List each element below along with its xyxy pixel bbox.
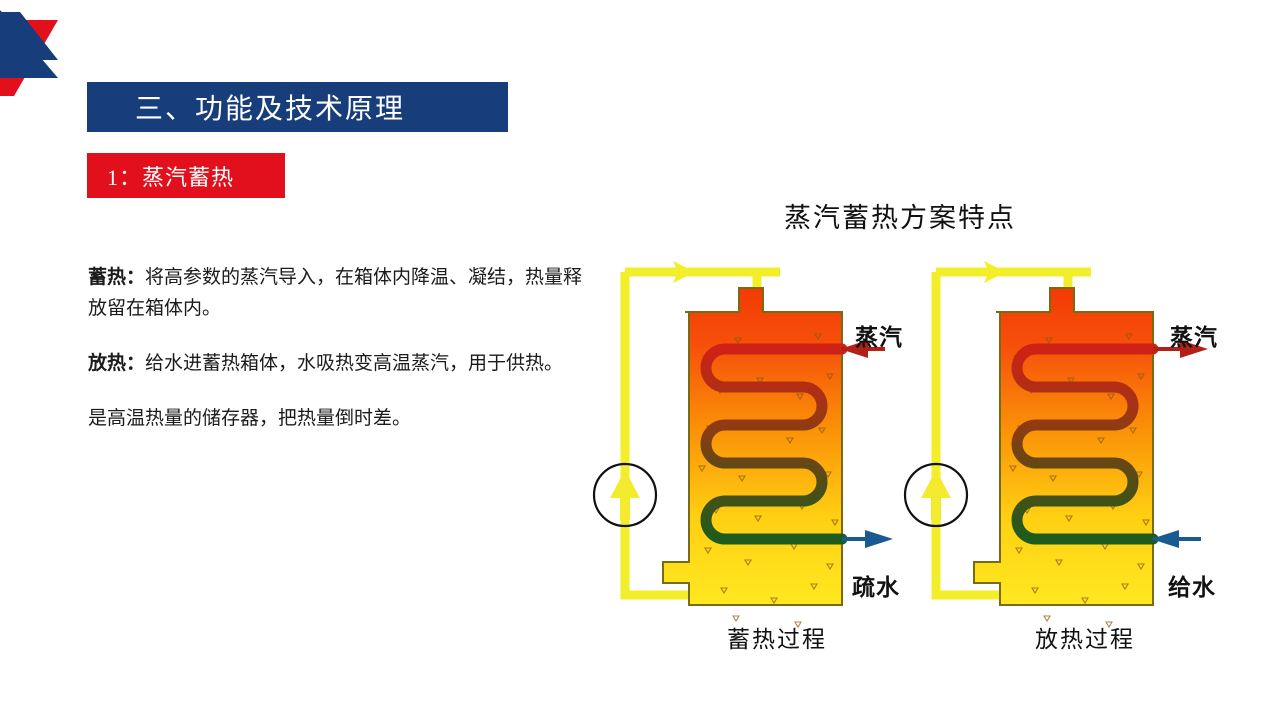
- slide: 三、功能及技术原理 1：蒸汽蓄热 蓄热：将高参数的蒸汽导入，在箱体内降温、凝结，…: [0, 0, 1280, 720]
- diagram-left-unit: [594, 261, 893, 627]
- loop-flow-arrow-left: [643, 261, 695, 283]
- feedwater-arrow-right: [1151, 530, 1179, 548]
- diagram-title: 蒸汽蓄热方案特点: [700, 196, 1100, 235]
- tank-body-left: [663, 288, 842, 605]
- caption-left-process: 蓄热过程: [692, 620, 862, 654]
- label-feedwater-right: 给水: [1168, 568, 1216, 602]
- drain-arrow-left: [865, 530, 893, 548]
- drain-port-left: [842, 530, 893, 548]
- pump-up-arrow-right: [921, 470, 951, 520]
- caption-right-process: 放热过程: [1000, 620, 1170, 654]
- body-copy: 蓄热：将高参数的蒸汽导入，在箱体内降温、凝结，热量释放留在箱体内。 放热：给水进…: [88, 262, 593, 434]
- section-heading-bar: 三、功能及技术原理: [87, 82, 508, 132]
- corner-blue-chevron: [0, 12, 58, 60]
- loop-flow-arrow-right: [954, 261, 1006, 283]
- tank-body-right: [974, 288, 1153, 605]
- paragraph-release-lead: 放热：: [88, 353, 145, 374]
- subsection-heading-bar: 1：蒸汽蓄热: [87, 153, 285, 198]
- paragraph-storage-text: 将高参数的蒸汽导入，在箱体内降温、凝结，热量释放留在箱体内。: [88, 267, 582, 319]
- paragraph-release-text: 给水进蓄热箱体，水吸热变高温蒸汽，用于供热。: [145, 353, 563, 374]
- label-drain-left: 疏水: [852, 568, 900, 602]
- diagram-right-unit: [905, 261, 1208, 627]
- paragraph-storage-lead: 蓄热：: [88, 267, 145, 288]
- pump-up-arrow-left: [610, 470, 640, 520]
- feedwater-port-right: [1151, 530, 1201, 548]
- paragraph-release: 放热：给水进蓄热箱体，水吸热变高温蒸汽，用于供热。: [88, 348, 593, 379]
- paragraph-closing: 是高温热量的储存器，把热量倒时差。: [88, 403, 593, 434]
- diagram-svg: [585, 250, 1275, 670]
- label-steam-left: 蒸汽: [855, 318, 903, 352]
- diagram-figure: [585, 250, 1275, 670]
- subsection-heading-text: 1：蒸汽蓄热: [87, 160, 234, 192]
- label-steam-right: 蒸汽: [1170, 318, 1218, 352]
- section-heading-text: 三、功能及技术原理: [87, 87, 405, 127]
- paragraph-storage: 蓄热：将高参数的蒸汽导入，在箱体内降温、凝结，热量释放留在箱体内。: [88, 262, 593, 324]
